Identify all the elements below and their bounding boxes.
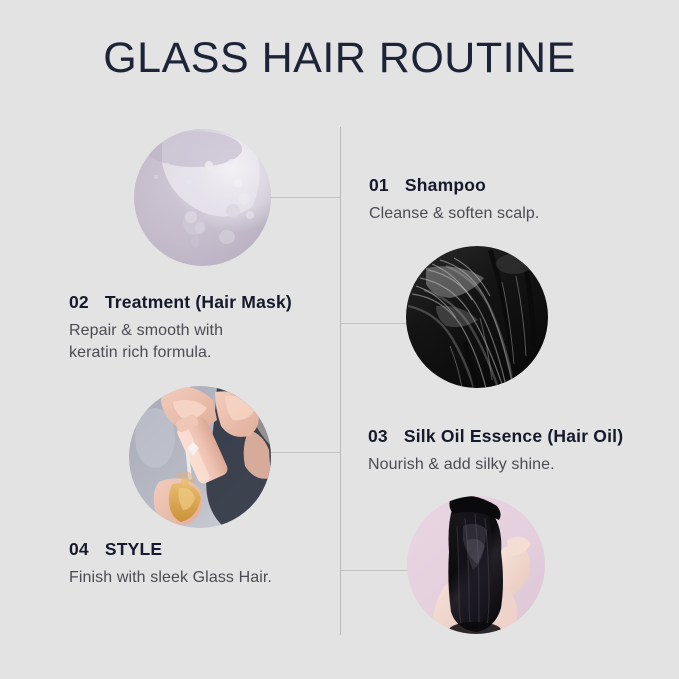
step-label: Shampoo xyxy=(405,175,486,196)
hair-mask-dark-strands-photo xyxy=(406,246,548,388)
step-item-02: 02 Treatment (Hair Mask) Repair & smooth… xyxy=(69,292,292,363)
page-title: GLASS HAIR ROUTINE xyxy=(0,34,679,83)
step-description: Nourish & add silky shine. xyxy=(368,454,623,476)
step-heading: 01 Shampoo xyxy=(369,175,539,196)
step-label: Treatment (Hair Mask) xyxy=(105,292,292,313)
step-item-03: 03 Silk Oil Essence (Hair Oil) Nourish &… xyxy=(368,426,623,476)
step-heading: 03 Silk Oil Essence (Hair Oil) xyxy=(368,426,623,447)
step-description: Cleanse & soften scalp. xyxy=(369,203,539,225)
step-heading: 02 Treatment (Hair Mask) xyxy=(69,292,292,313)
step-description: Repair & smooth with keratin rich formul… xyxy=(69,320,292,363)
shampoo-gel-bubbles-photo xyxy=(134,129,271,266)
hair-oil-dropper-photo xyxy=(129,386,271,528)
step-item-04: 04 STYLE Finish with sleek Glass Hair. xyxy=(69,539,272,589)
step-label: STYLE xyxy=(105,539,162,560)
step-number: 03 xyxy=(368,426,388,447)
step-number: 02 xyxy=(69,292,89,313)
glass-hair-routine-poster: GLASS HAIR ROUTINE xyxy=(0,0,679,679)
step-description: Finish with sleek Glass Hair. xyxy=(69,567,272,589)
sleek-glass-hair-photo xyxy=(407,496,545,634)
vertical-connector-line xyxy=(340,127,341,635)
step-label: Silk Oil Essence (Hair Oil) xyxy=(404,426,623,447)
step-item-01: 01 Shampoo Cleanse & soften scalp. xyxy=(369,175,539,225)
step-heading: 04 STYLE xyxy=(69,539,272,560)
step-number: 01 xyxy=(369,175,389,196)
step-number: 04 xyxy=(69,539,89,560)
